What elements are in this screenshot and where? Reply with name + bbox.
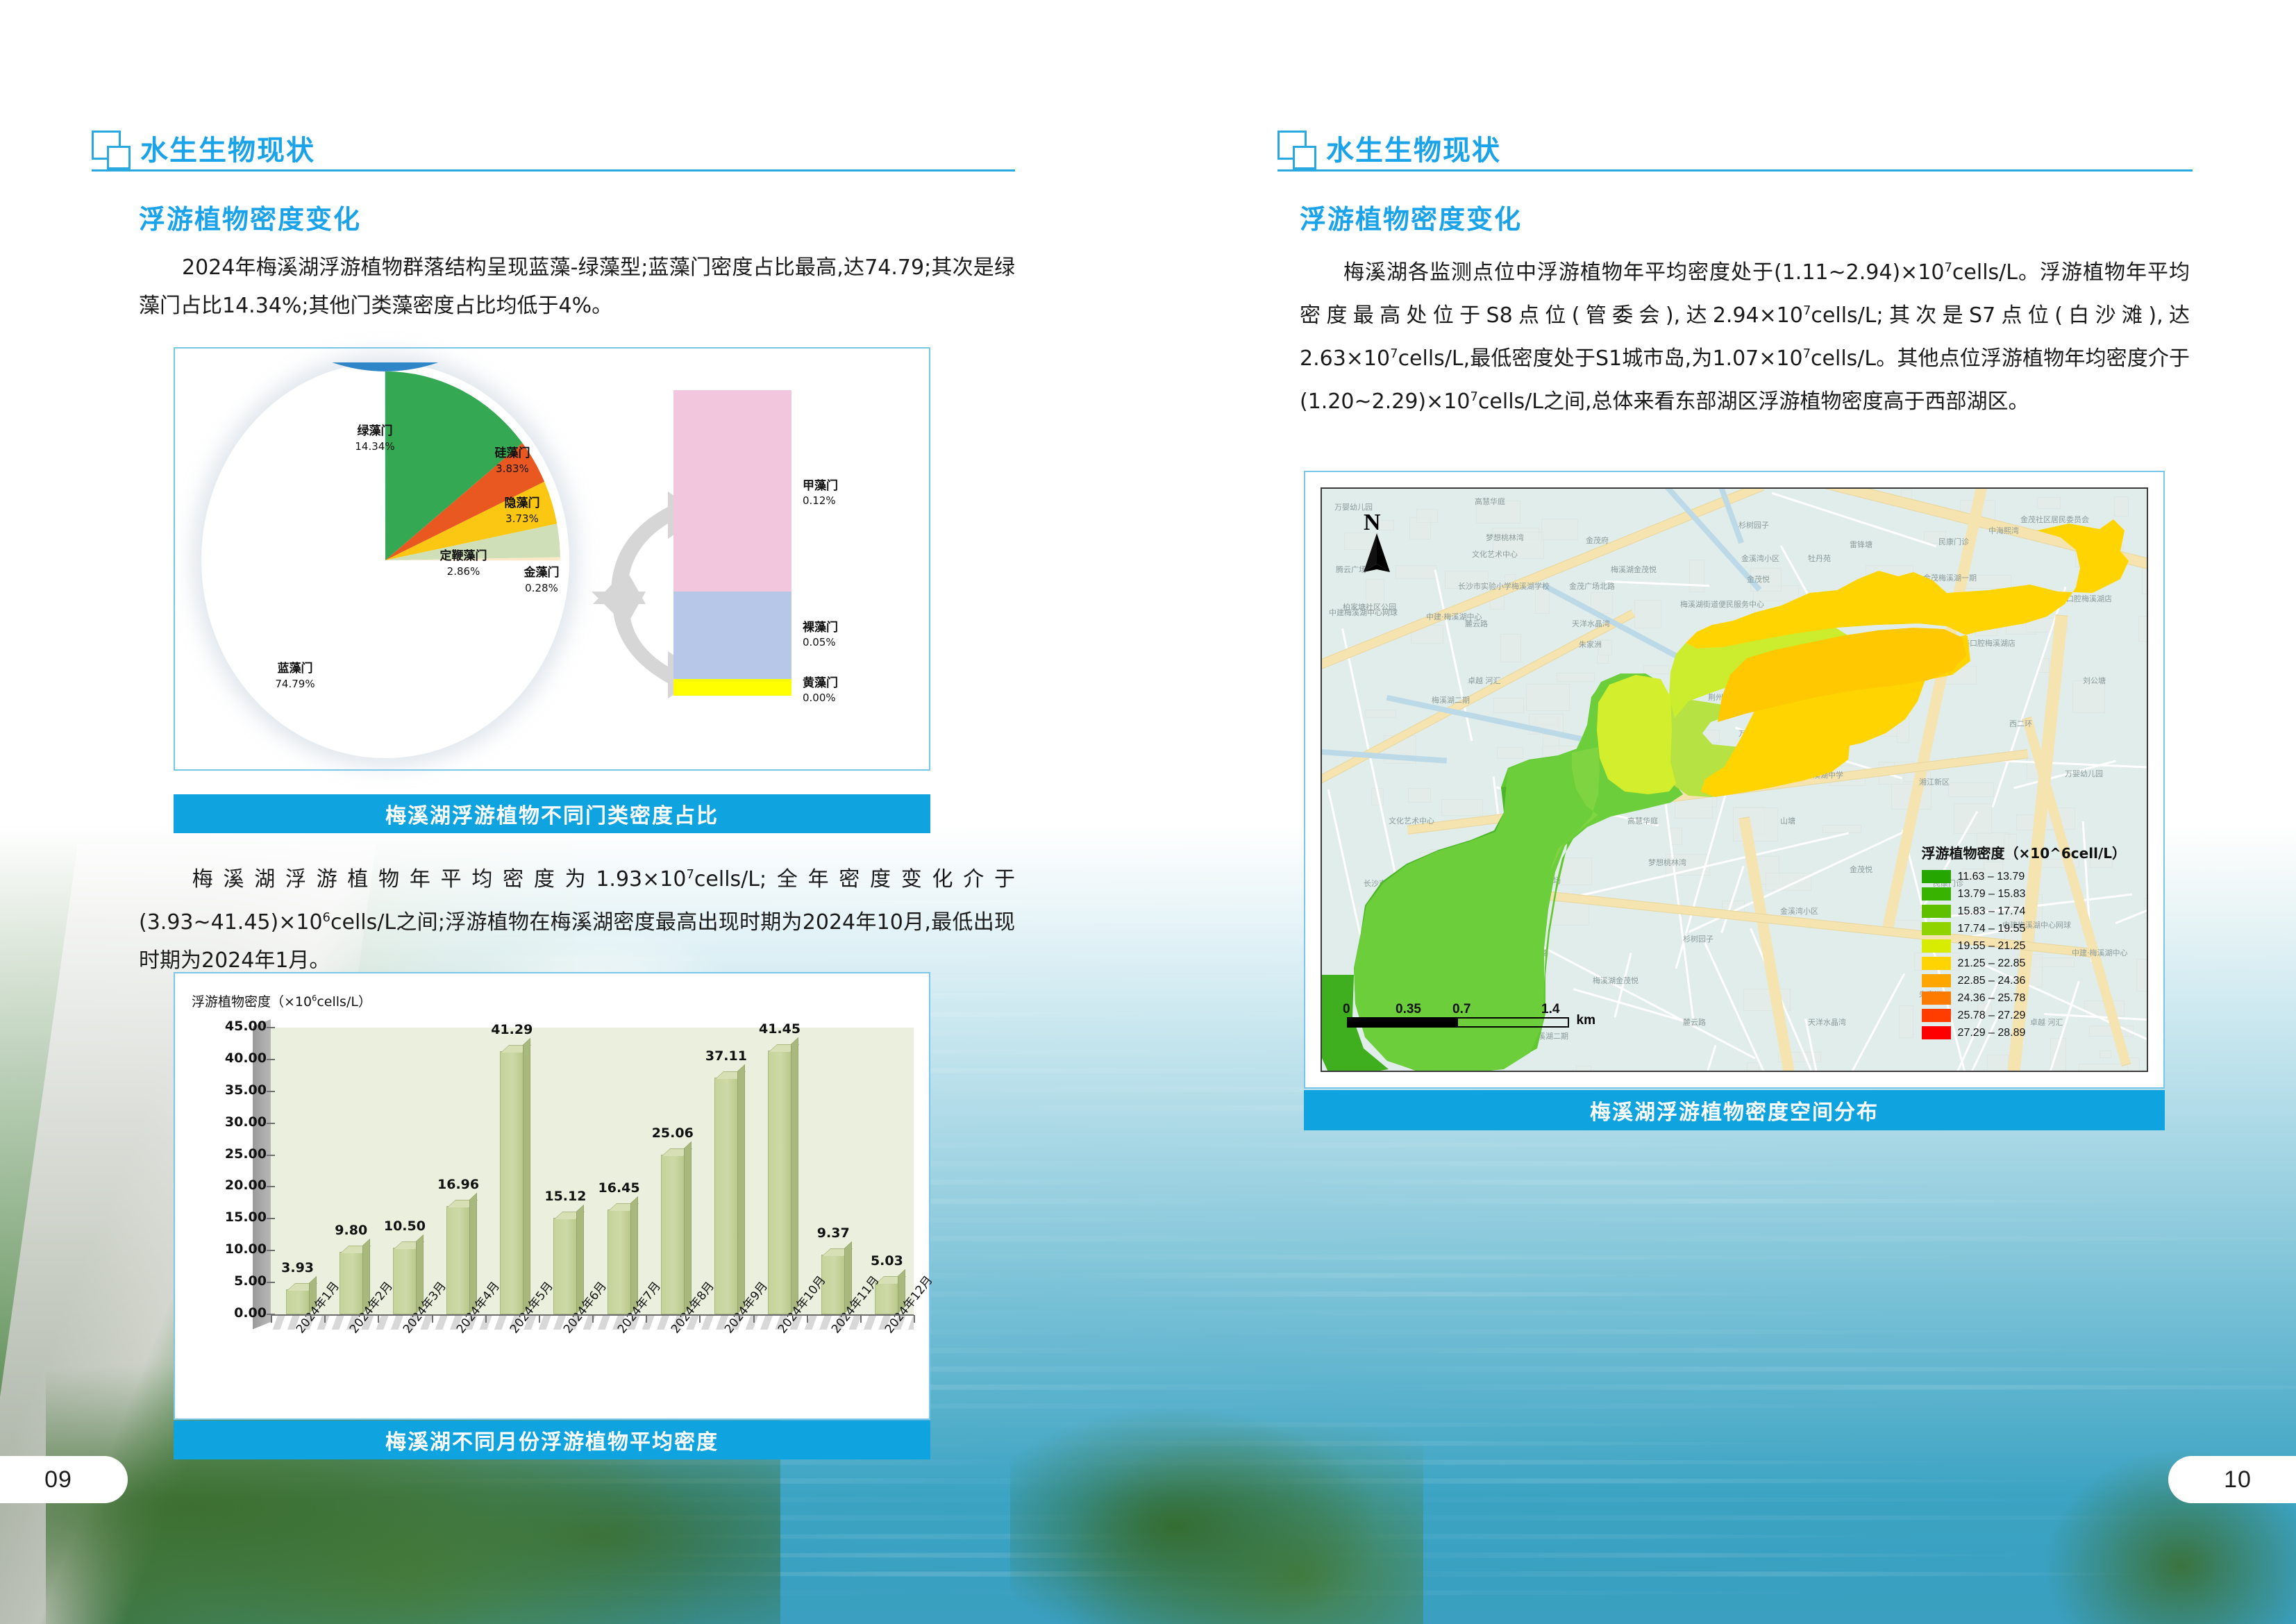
map-block <box>2068 1071 2120 1072</box>
y-tick-mark <box>267 1123 275 1124</box>
paragraph-right: 梅溪湖各监测点位中浮游植物年平均密度处于(1.11~2.94)×107cells… <box>1300 249 2190 421</box>
legend-swatch <box>1922 922 1951 935</box>
y-tick-mark <box>267 1027 275 1028</box>
y-tick-label: 45.00 <box>175 1019 267 1034</box>
y-tick-label: 40.00 <box>175 1050 267 1066</box>
section-header-left: 水生生物现状 <box>92 128 1015 176</box>
figure-map-frame: 万婴幼儿园高慧华庭梦想桃林湾腾云广场柏家塘社区公园文化艺术中心长沙市实验小学梅溪… <box>1304 471 2165 1089</box>
x-tick-mark <box>324 1315 326 1323</box>
bar-side-face <box>523 1038 530 1314</box>
paragraph-left-2: 梅溪湖浮游植物年平均密度为1.93×107cells/L;全年密度变化介于(3.… <box>139 855 1015 980</box>
y-tick-mark <box>267 1059 275 1060</box>
column-chart-axis-label: 浮游植物密度（×106cells/L） <box>192 991 371 1010</box>
pie-svg <box>201 362 569 758</box>
bar-value-label: 41.45 <box>748 1021 811 1037</box>
legend-swatch <box>1922 870 1951 883</box>
y-tick-mark <box>267 1218 275 1219</box>
x-tick-mark <box>753 1315 755 1323</box>
y-tick-mark <box>267 1155 275 1156</box>
legend-row: 21.25 – 22.85 <box>1922 955 2126 972</box>
x-tick-mark <box>539 1315 540 1323</box>
legend-range-label: 27.29 – 28.89 <box>1958 1027 2026 1039</box>
legend-swatch <box>1922 939 1951 953</box>
y-tick-label: 15.00 <box>175 1209 267 1225</box>
north-arrow-icon: N <box>1358 512 1396 572</box>
legend-range-label: 15.83 – 17.74 <box>1958 905 2026 918</box>
legend-row: 13.79 – 15.83 <box>1922 885 2126 903</box>
figure-pie-frame: 绿藻门 14.34% 蓝藻门 74.79% 硅藻门 3.83% 隐藻门 3.73… <box>174 347 930 771</box>
legend-swatch <box>1922 974 1951 987</box>
x-tick-mark <box>807 1315 808 1323</box>
map-canvas[interactable]: 万婴幼儿园高慧华庭梦想桃林湾腾云广场柏家塘社区公园文化艺术中心长沙市实验小学梅溪… <box>1321 487 2148 1072</box>
bar-column <box>500 1051 523 1314</box>
legend-row: 25.78 – 27.29 <box>1922 1007 2126 1024</box>
page-number-left: 09 <box>0 1456 128 1503</box>
stack-segment-luozaomen <box>673 592 791 679</box>
x-tick-mark <box>485 1315 487 1323</box>
stack-segment-huangzaomen <box>673 679 791 696</box>
y-tick-label: 20.00 <box>175 1178 267 1193</box>
y-tick-label: 35.00 <box>175 1082 267 1098</box>
legend-range-label: 19.55 – 21.25 <box>1958 940 2026 953</box>
figure-column-frame: 浮游植物密度（×106cells/L） 0.005.0010.0015.0020… <box>174 972 930 1420</box>
pie-label-yinzaomen: 隐藻门 3.73% <box>480 496 564 526</box>
bar-value-label: 25.06 <box>642 1125 704 1141</box>
inset-stacked-bar: 甲藻门 0.12% 裸藻门 0.05% 黄藻门 0.00% <box>673 390 791 696</box>
pie-label-lvzaomen: 绿藻门 14.34% <box>333 424 417 454</box>
paragraph-left-1-text: 2024年梅溪湖浮游植物群落结构呈现蓝藻-绿藻型;蓝藻门密度占比最高,达74.7… <box>139 256 1015 318</box>
figure-column-caption: 梅溪湖不同月份浮游植物平均密度 <box>174 1421 930 1459</box>
bar-column <box>661 1155 685 1314</box>
bar-side-face <box>791 1037 798 1314</box>
y-tick-label: 5.00 <box>175 1273 267 1289</box>
legend-range-label: 24.36 – 25.78 <box>1958 992 2026 1005</box>
stack-label-jiazaomen: 甲藻门 0.12% <box>803 479 838 508</box>
x-tick-mark <box>914 1315 915 1323</box>
legend-swatch <box>1922 887 1951 901</box>
legend-row: 22.85 – 24.36 <box>1922 972 2126 989</box>
legend-row: 27.29 – 28.89 <box>1922 1024 2126 1041</box>
bar-value-label: 9.37 <box>802 1225 864 1241</box>
pie-chart: 绿藻门 14.34% 蓝藻门 74.79% 硅藻门 3.83% 隐藻门 3.73… <box>201 362 569 758</box>
x-tick-mark <box>699 1315 701 1323</box>
legend-range-label: 22.85 – 24.36 <box>1958 975 2026 987</box>
bar-column <box>393 1248 417 1314</box>
double-square-icon <box>92 131 131 169</box>
legend-row: 15.83 – 17.74 <box>1922 903 2126 920</box>
stack-label-luozaomen: 裸藻门 0.05% <box>803 621 838 650</box>
y-tick-label: 25.00 <box>175 1146 267 1162</box>
stack-segment-jiazaomen <box>673 390 791 592</box>
map-scale-bar: 0 0.35 0.7 1.4 km <box>1347 1002 1569 1028</box>
x-tick-mark <box>592 1315 594 1323</box>
bar-value-label: 10.50 <box>374 1219 436 1234</box>
bar-side-face <box>684 1141 692 1314</box>
pie-label-guizaomen: 硅藻门 3.83% <box>471 446 554 476</box>
x-tick-mark <box>271 1315 272 1323</box>
legend-swatch <box>1922 957 1951 970</box>
page-number-right: 10 <box>2168 1456 2296 1503</box>
legend-range-label: 25.78 – 27.29 <box>1958 1010 2026 1022</box>
subtitle-right: 浮游植物密度变化 <box>1300 198 1522 236</box>
legend-row: 19.55 – 21.25 <box>1922 937 2126 955</box>
section-title: 水生生物现状 <box>140 128 315 168</box>
y-tick-mark <box>267 1091 275 1092</box>
legend-row: 24.36 – 25.78 <box>1922 989 2126 1007</box>
legend-swatch <box>1922 905 1951 918</box>
scale-bar-graphic: km <box>1347 1017 1569 1028</box>
x-axis-line <box>271 1314 914 1316</box>
bar-column <box>714 1078 738 1314</box>
y-tick-label: 0.00 <box>175 1305 267 1321</box>
legend-swatch <box>1922 1009 1951 1022</box>
y-tick-mark <box>267 1186 275 1187</box>
bar-column <box>768 1050 791 1314</box>
y-tick-mark <box>267 1250 275 1251</box>
x-tick-mark <box>432 1315 433 1323</box>
pie-label-dingbianzaomen: 定鞭藻门 2.86% <box>417 549 510 579</box>
bar-column <box>446 1206 470 1314</box>
legend-title: 浮游植物密度（×10^6cell/L） <box>1922 842 2126 862</box>
section-rule <box>1277 169 2193 171</box>
bar-value-label: 3.93 <box>267 1260 329 1275</box>
section-title: 水生生物现状 <box>1326 128 1501 168</box>
y-tick-label: 30.00 <box>175 1114 267 1130</box>
figure-pie-caption: 梅溪湖浮游植物不同门类密度占比 <box>174 794 930 833</box>
legend-rows: 11.63 – 13.7913.79 – 15.8315.83 – 17.741… <box>1922 868 2126 1041</box>
bar-value-label: 16.45 <box>588 1180 651 1196</box>
map-legend: 浮游植物密度（×10^6cell/L） 11.63 – 13.7913.79 –… <box>1922 842 2126 1041</box>
bar-value-label: 37.11 <box>695 1048 757 1064</box>
legend-swatch <box>1922 1026 1951 1039</box>
y-tick-mark <box>267 1282 275 1283</box>
figure-map-caption: 梅溪湖浮游植物密度空间分布 <box>1304 1090 2165 1130</box>
stack-label-huangzaomen: 黄藻门 0.00% <box>803 676 838 705</box>
bar-column <box>607 1209 631 1314</box>
y-tick-label: 10.00 <box>175 1241 267 1257</box>
section-rule <box>92 169 1015 171</box>
legend-range-label: 17.74 – 19.55 <box>1958 923 2026 935</box>
legend-row: 11.63 – 13.79 <box>1922 868 2126 885</box>
double-square-icon <box>1277 131 1316 169</box>
subtitle-left: 浮游植物密度变化 <box>139 198 361 236</box>
x-tick-mark <box>378 1315 379 1323</box>
scale-bar-labels: 0 0.35 0.7 1.4 <box>1347 1002 1569 1017</box>
column-chart: 浮游植物密度（×106cells/L） 0.005.0010.0015.0020… <box>175 973 929 1418</box>
legend-range-label: 21.25 – 22.85 <box>1958 957 2026 970</box>
x-tick-mark <box>646 1315 647 1323</box>
legend-swatch <box>1922 991 1951 1005</box>
pie-label-jinzaomen: 金藻门 0.28% <box>500 565 583 596</box>
x-tick-mark <box>860 1315 862 1323</box>
section-header-right: 水生生物现状 <box>1277 128 2193 176</box>
bar-value-label: 41.29 <box>480 1022 543 1037</box>
paragraph-left-1: 2024年梅溪湖浮游植物群落结构呈现蓝藻-绿藻型;蓝藻门密度占比最高,达74.7… <box>139 249 1015 325</box>
bar-side-face <box>737 1064 745 1314</box>
pie-label-lanzaomen: 蓝藻门 74.79% <box>250 661 340 692</box>
legend-range-label: 13.79 – 15.83 <box>1958 888 2026 901</box>
legend-row: 17.74 – 19.55 <box>1922 920 2126 937</box>
bar-value-label: 5.03 <box>855 1253 918 1269</box>
bar-value-label: 16.96 <box>427 1177 489 1192</box>
bar-column <box>553 1218 577 1314</box>
lake-class-transition <box>1597 675 1676 794</box>
legend-range-label: 11.63 – 13.79 <box>1958 871 2025 883</box>
